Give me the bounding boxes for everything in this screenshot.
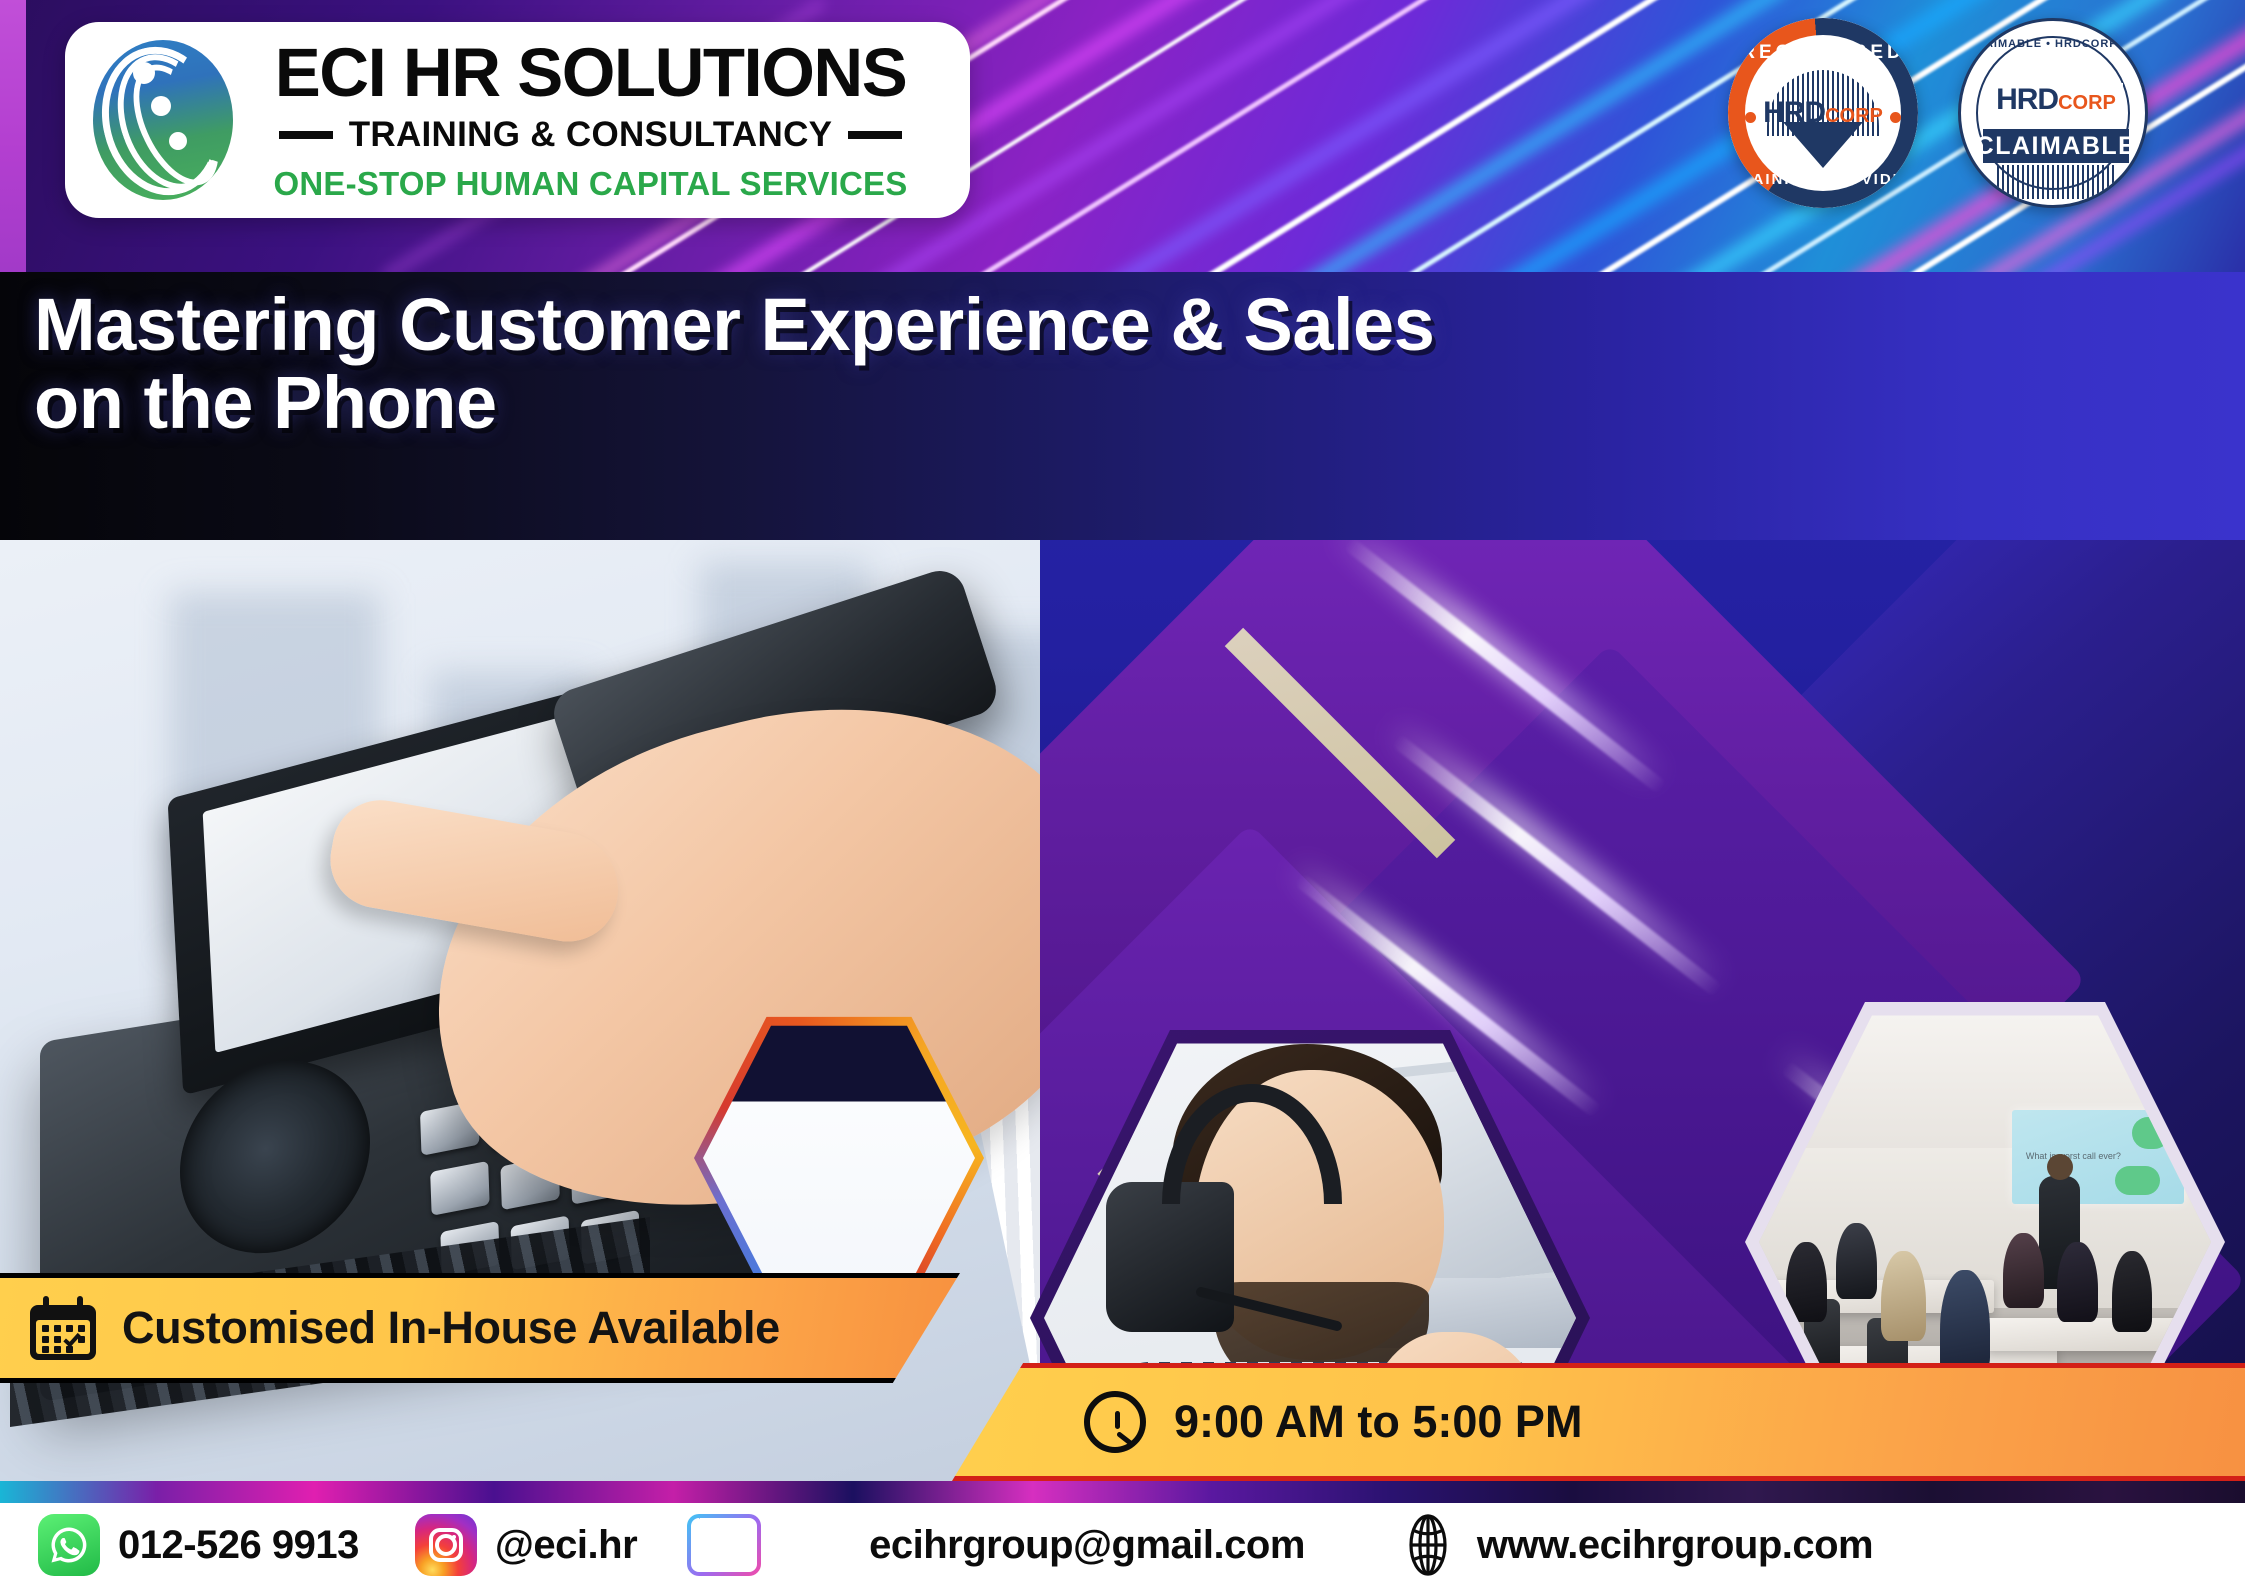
header-bar: ECI HR SOLUTIONS TRAINING & CONSULTANCY … <box>0 0 2245 272</box>
clock-icon <box>1084 1391 1146 1453</box>
brand-name: ECI HR SOLUTIONS <box>275 38 907 107</box>
header-left-accent-strip <box>0 0 26 272</box>
instagram-icon[interactable] <box>415 1514 477 1576</box>
decorative-gradient-hexagon-outline <box>694 1014 984 1302</box>
footer-website[interactable]: www.ecihrgroup.com <box>1397 1514 1873 1576</box>
rainbow-separator-strip <box>0 1481 2245 1503</box>
poster-root: ECI HR SOLUTIONS TRAINING & CONSULTANCY … <box>0 0 2245 1587</box>
time-banner-label: 9:00 AM to 5:00 PM <box>1174 1396 1582 1448</box>
title-band: Mastering Customer Experience & Sales on… <box>0 272 2245 540</box>
badge-registered-bottom-text: TRAINING PROVIDER <box>1728 171 1917 188</box>
rule-left <box>279 131 333 139</box>
page-title-wrapper: Mastering Customer Experience & Sales on… <box>34 286 1434 443</box>
whatsapp-number: 012-526 9913 <box>118 1523 359 1568</box>
badge2-corp-text: CORP <box>2058 92 2116 115</box>
email-envelope-icon[interactable] <box>687 1514 761 1576</box>
footer-instagram[interactable]: @eci.hr <box>415 1514 637 1576</box>
rule-right <box>848 131 902 139</box>
badge-hrd-text: HRD <box>1763 96 1825 130</box>
time-banner: 9:00 AM to 5:00 PM <box>952 1363 2245 1481</box>
contact-footer: 012-526 9913 @eci.hr ecihrgroup@gmail.co… <box>0 1503 2245 1587</box>
inhouse-banner-label: Customised In-House Available <box>122 1302 780 1354</box>
website-url: www.ecihrgroup.com <box>1477 1523 1873 1568</box>
instagram-handle: @eci.hr <box>495 1523 637 1568</box>
badge-dot-right <box>1890 112 1901 123</box>
badge-registered-top-text: REGISTERED <box>1741 42 1905 64</box>
globe-icon[interactable] <box>1397 1514 1459 1576</box>
footer-whatsapp[interactable]: 012-526 9913 <box>38 1514 359 1576</box>
badge-corp-text: CORP <box>1825 105 1883 128</box>
brand-logo-plate: ECI HR SOLUTIONS TRAINING & CONSULTANCY … <box>65 22 970 218</box>
hrdcorp-claimable-badge: HRDCORP CLAIMABLE • HRDCORP CLAIMABLE • … <box>1958 18 2148 208</box>
whatsapp-icon[interactable] <box>38 1514 100 1576</box>
eci-globe-leaf-logo <box>87 36 237 204</box>
calendar-check-icon <box>30 1296 96 1360</box>
badge-claimable-ring-top: HRDCORP CLAIMABLE • HRDCORP CLAIMABLE • … <box>1958 38 2148 50</box>
badge2-hrd-text: HRD <box>1996 83 2058 117</box>
footer-email[interactable]: ecihrgroup@gmail.com <box>687 1514 1305 1576</box>
page-title: Mastering Customer Experience & Sales on… <box>34 286 1434 443</box>
hrdcorp-registered-badge: REGISTERED TRAINING PROVIDER HRD CORP <box>1728 18 1918 208</box>
slide-text-1: What is worst call ever? <box>2026 1151 2121 1161</box>
brand-subtitle-row: TRAINING & CONSULTANCY <box>279 115 903 155</box>
badge-dot-left <box>1745 112 1756 123</box>
email-address: ecihrgroup@gmail.com <box>869 1523 1305 1568</box>
brand-subtitle: TRAINING & CONSULTANCY <box>349 115 833 155</box>
badge2-claimable-text: CLAIMABLE <box>1976 132 2137 161</box>
brand-tagline: ONE-STOP HUMAN CAPITAL SERVICES <box>274 165 908 203</box>
customised-inhouse-banner: Customised In-House Available <box>0 1273 960 1383</box>
